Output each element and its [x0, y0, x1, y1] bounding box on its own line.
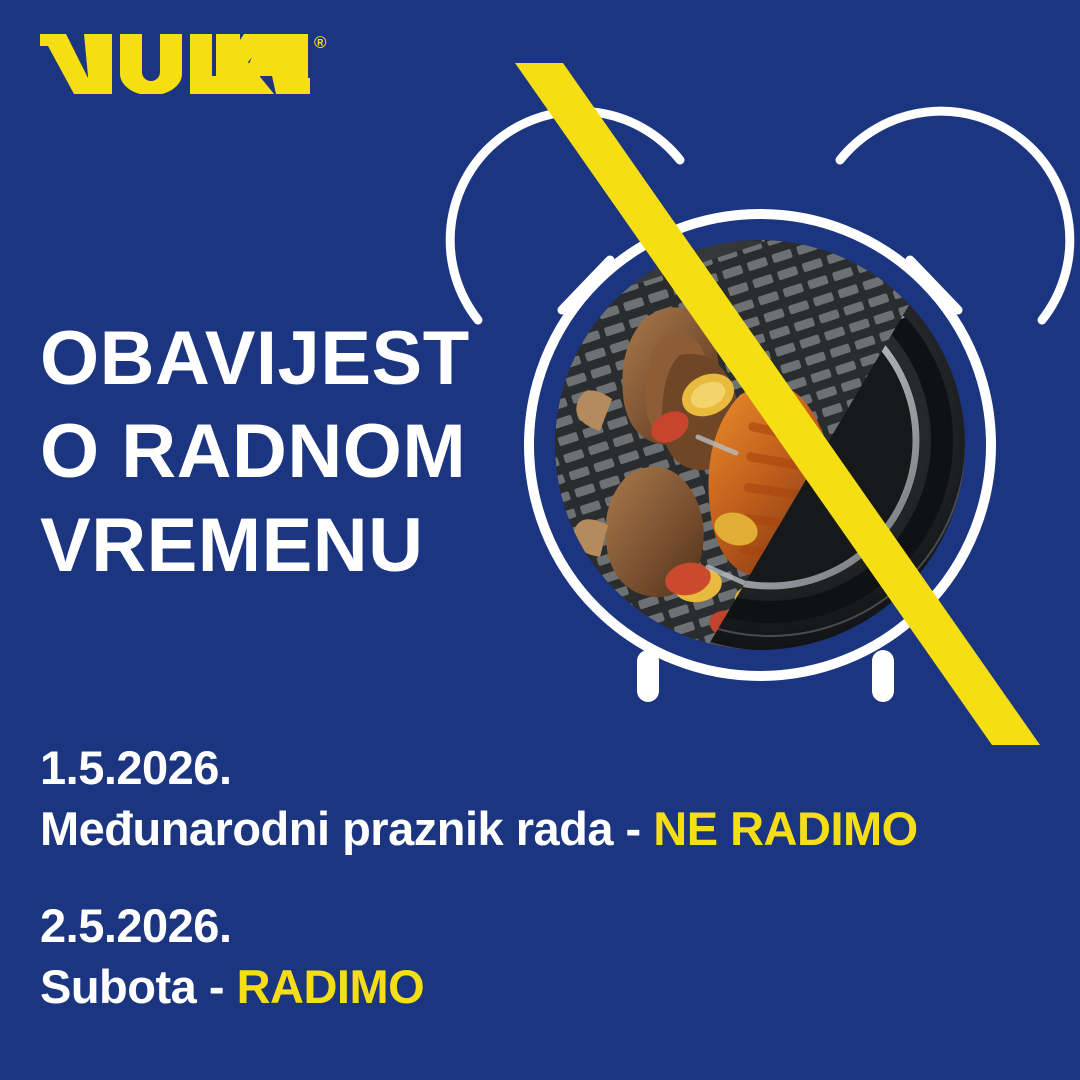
notice-status: RADIMO [237, 960, 425, 1013]
alarm-clock-leg-right [872, 650, 894, 702]
vulkal-logo: ® [40, 32, 327, 96]
notice-status: NE RADIMO [653, 802, 917, 855]
notice-label: Subota [40, 960, 196, 1013]
notice-item: 1.5.2026. Međunarodni praznik rada - NE … [40, 742, 1060, 856]
alarm-clock-leg-left [637, 650, 659, 702]
notice-description: Međunarodni praznik rada - NE RADIMO [40, 801, 1060, 856]
notice-date: 2.5.2026. [40, 900, 1060, 953]
vulkal-logo-mark [40, 32, 310, 94]
notice-label: Međunarodni praznik rada [40, 802, 613, 855]
notice-description: Subota - RADIMO [40, 959, 1060, 1014]
notice-separator: - [196, 960, 236, 1013]
notice-item: 2.5.2026. Subota - RADIMO [40, 900, 1060, 1014]
notice-separator: - [613, 802, 653, 855]
notice-date: 1.5.2026. [40, 742, 1060, 795]
alarm-clock-illustration: MICHELIN PRIMACY [440, 55, 1080, 755]
registered-trademark-icon: ® [314, 34, 327, 51]
working-hours-notice-poster: ® OBAVIJEST O RADNOM VREMENU [0, 0, 1080, 1080]
notice-list: 1.5.2026. Međunarodni praznik rada - NE … [40, 742, 1060, 1058]
